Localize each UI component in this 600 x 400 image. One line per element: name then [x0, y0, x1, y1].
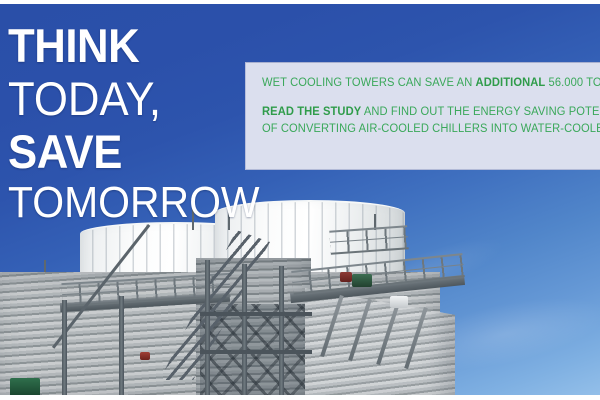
support-column-1 [205, 260, 210, 395]
support-column-5 [62, 300, 67, 395]
headline-line-save: SAVE [8, 128, 231, 175]
support-column-4 [119, 296, 124, 395]
cooling-tower-photo [0, 200, 600, 395]
study-rest-line-1: AND FIND OUT THE ENERGY SAVING POTENTIAL [361, 106, 600, 118]
read-the-study-link[interactable]: READ THE STUDY [262, 106, 361, 118]
study-rest-line-2: OF CONVERTING AIR-COOLED CHILLERS INTO W… [262, 123, 600, 135]
support-column-2 [242, 264, 247, 395]
equipment-box-red [340, 272, 352, 282]
equipment-box-green [352, 274, 372, 287]
equipment-box-white [390, 296, 408, 308]
savings-lead-text: WET COOLING TOWERS CAN SAVE AN [262, 77, 476, 89]
equipment-box-green-lower [10, 378, 40, 395]
headline-line-think: THINK [8, 22, 231, 69]
savings-middle-text: 56.000 TONS OF CO [545, 77, 600, 89]
message-paragraph-study: READ THE STUDY AND FIND OUT THE ENERGY S… [262, 104, 578, 137]
equipment-box-red-small [140, 352, 150, 360]
bottom-white-strip [0, 395, 600, 400]
top-white-strip [0, 0, 600, 4]
cross-brace-2 [200, 350, 312, 354]
promo-banner: THINK TODAY, SAVE TOMORROW WET COOLING T… [0, 0, 600, 400]
handrail-posts-upper [329, 227, 408, 252]
support-column-3 [279, 266, 284, 395]
headline-block: THINK TODAY, SAVE TOMORROW [8, 22, 248, 225]
savings-emphasis-text: ADDITIONAL [476, 77, 546, 89]
headline-line-tomorrow: TOMORROW [8, 181, 231, 225]
message-paragraph-savings: WET COOLING TOWERS CAN SAVE AN ADDITIONA… [262, 75, 578, 93]
message-panel: WET COOLING TOWERS CAN SAVE AN ADDITIONA… [245, 62, 600, 170]
cross-brace-1 [200, 312, 312, 316]
headline-line-today: TODAY, [8, 75, 231, 122]
